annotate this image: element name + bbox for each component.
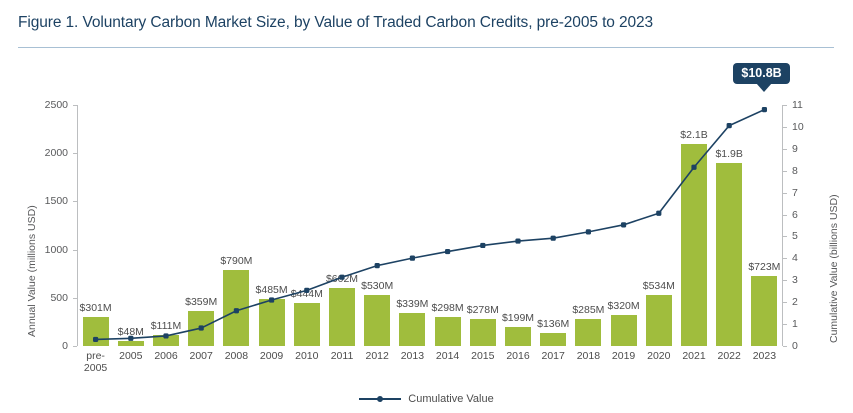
y-tick-right [783, 105, 787, 106]
y-tick-label-left: 2500 [30, 100, 68, 111]
bar[interactable] [294, 303, 320, 346]
bar-value-label: $111M [140, 321, 192, 332]
y-tick-label-right: 10 [792, 122, 804, 133]
line-data-point[interactable] [375, 263, 380, 268]
title-divider [18, 47, 834, 48]
y-axis-left-title: Annual Value (millions USD) [26, 205, 38, 337]
y-tick-label-right: 5 [792, 231, 798, 242]
chart-legend: Cumulative Value [0, 393, 853, 405]
x-axis-label: 2023 [742, 351, 786, 363]
bar[interactable] [153, 335, 179, 346]
bar[interactable] [540, 333, 566, 346]
bar[interactable] [399, 313, 425, 346]
line-data-point[interactable] [656, 211, 661, 216]
bar[interactable] [575, 319, 601, 346]
line-data-point[interactable] [727, 123, 732, 128]
y-tick-right [783, 302, 787, 303]
bar[interactable] [188, 311, 214, 346]
bar[interactable] [751, 276, 777, 346]
y-tick-left [73, 250, 77, 251]
callout-bubble: $10.8B [733, 63, 789, 85]
y-tick-label-right: 2 [792, 297, 798, 308]
callout-pointer [756, 83, 772, 92]
bar-value-label: $2.1B [668, 130, 720, 141]
y-tick-label-right: 3 [792, 275, 798, 286]
line-data-point[interactable] [621, 222, 626, 227]
y-tick-right [783, 127, 787, 128]
bar[interactable] [435, 317, 461, 346]
bar-value-label: $1.9B [703, 149, 755, 160]
line-data-point[interactable] [515, 238, 520, 243]
y-tick-label-right: 11 [792, 100, 803, 111]
y-tick-label-right: 1 [792, 319, 798, 330]
y-tick-right [783, 258, 787, 259]
bar-value-label: $530M [351, 281, 403, 292]
bar[interactable] [223, 270, 249, 346]
bar[interactable] [118, 341, 144, 346]
page-title: Figure 1. Voluntary Carbon Market Size, … [18, 14, 653, 32]
y-tick-label-right: 9 [792, 144, 798, 155]
y-tick-right [783, 324, 787, 325]
bar[interactable] [681, 144, 707, 346]
chart-canvas: 05001000150020002500 01234567891011 Annu… [0, 55, 853, 413]
line-data-point[interactable] [445, 249, 450, 254]
y-tick-label-right: 6 [792, 210, 798, 221]
y-tick-right [783, 280, 787, 281]
line-data-point[interactable] [410, 256, 415, 261]
y-tick-right [783, 236, 787, 237]
y-tick-left [73, 201, 77, 202]
bar-value-label: $534M [633, 281, 685, 292]
bar[interactable] [259, 299, 285, 346]
y-tick-left [73, 105, 77, 106]
y-tick-left [73, 298, 77, 299]
line-data-point[interactable] [586, 229, 591, 234]
bar-value-label: $723M [738, 262, 790, 273]
y-axis-right-line [782, 105, 783, 346]
y-tick-left [73, 153, 77, 154]
bar-value-label: $444M [281, 289, 333, 300]
bar[interactable] [611, 315, 637, 346]
bar-value-label: $301M [70, 303, 122, 314]
y-tick-right [783, 171, 787, 172]
legend-label-cumulative: Cumulative Value [408, 393, 493, 405]
bar-value-label: $320M [598, 301, 650, 312]
line-data-point[interactable] [551, 236, 556, 241]
y-tick-label-left: 0 [30, 341, 68, 352]
line-data-point[interactable] [762, 107, 767, 112]
y-tick-right [783, 346, 787, 347]
y-tick-left [73, 346, 77, 347]
y-axis-right-title: Cumulative Value (billions USD) [828, 194, 840, 343]
bar-value-label: $359M [175, 297, 227, 308]
y-tick-right [783, 193, 787, 194]
y-tick-label-right: 0 [792, 341, 798, 352]
legend-marker-cumulative [359, 394, 401, 404]
bar[interactable] [329, 288, 355, 346]
y-tick-right [783, 215, 787, 216]
y-tick-label-right: 7 [792, 188, 798, 199]
y-tick-right [783, 149, 787, 150]
y-tick-label-right: 4 [792, 253, 798, 264]
bar-value-label: $790M [210, 256, 262, 267]
bar-value-label: $136M [527, 319, 579, 330]
y-tick-label-right: 8 [792, 166, 798, 177]
legend-dot-icon [377, 396, 383, 402]
bar[interactable] [716, 163, 742, 346]
line-data-point[interactable] [480, 243, 485, 248]
y-tick-label-left: 2000 [30, 148, 68, 159]
bar[interactable] [646, 295, 672, 346]
bar[interactable] [505, 327, 531, 346]
